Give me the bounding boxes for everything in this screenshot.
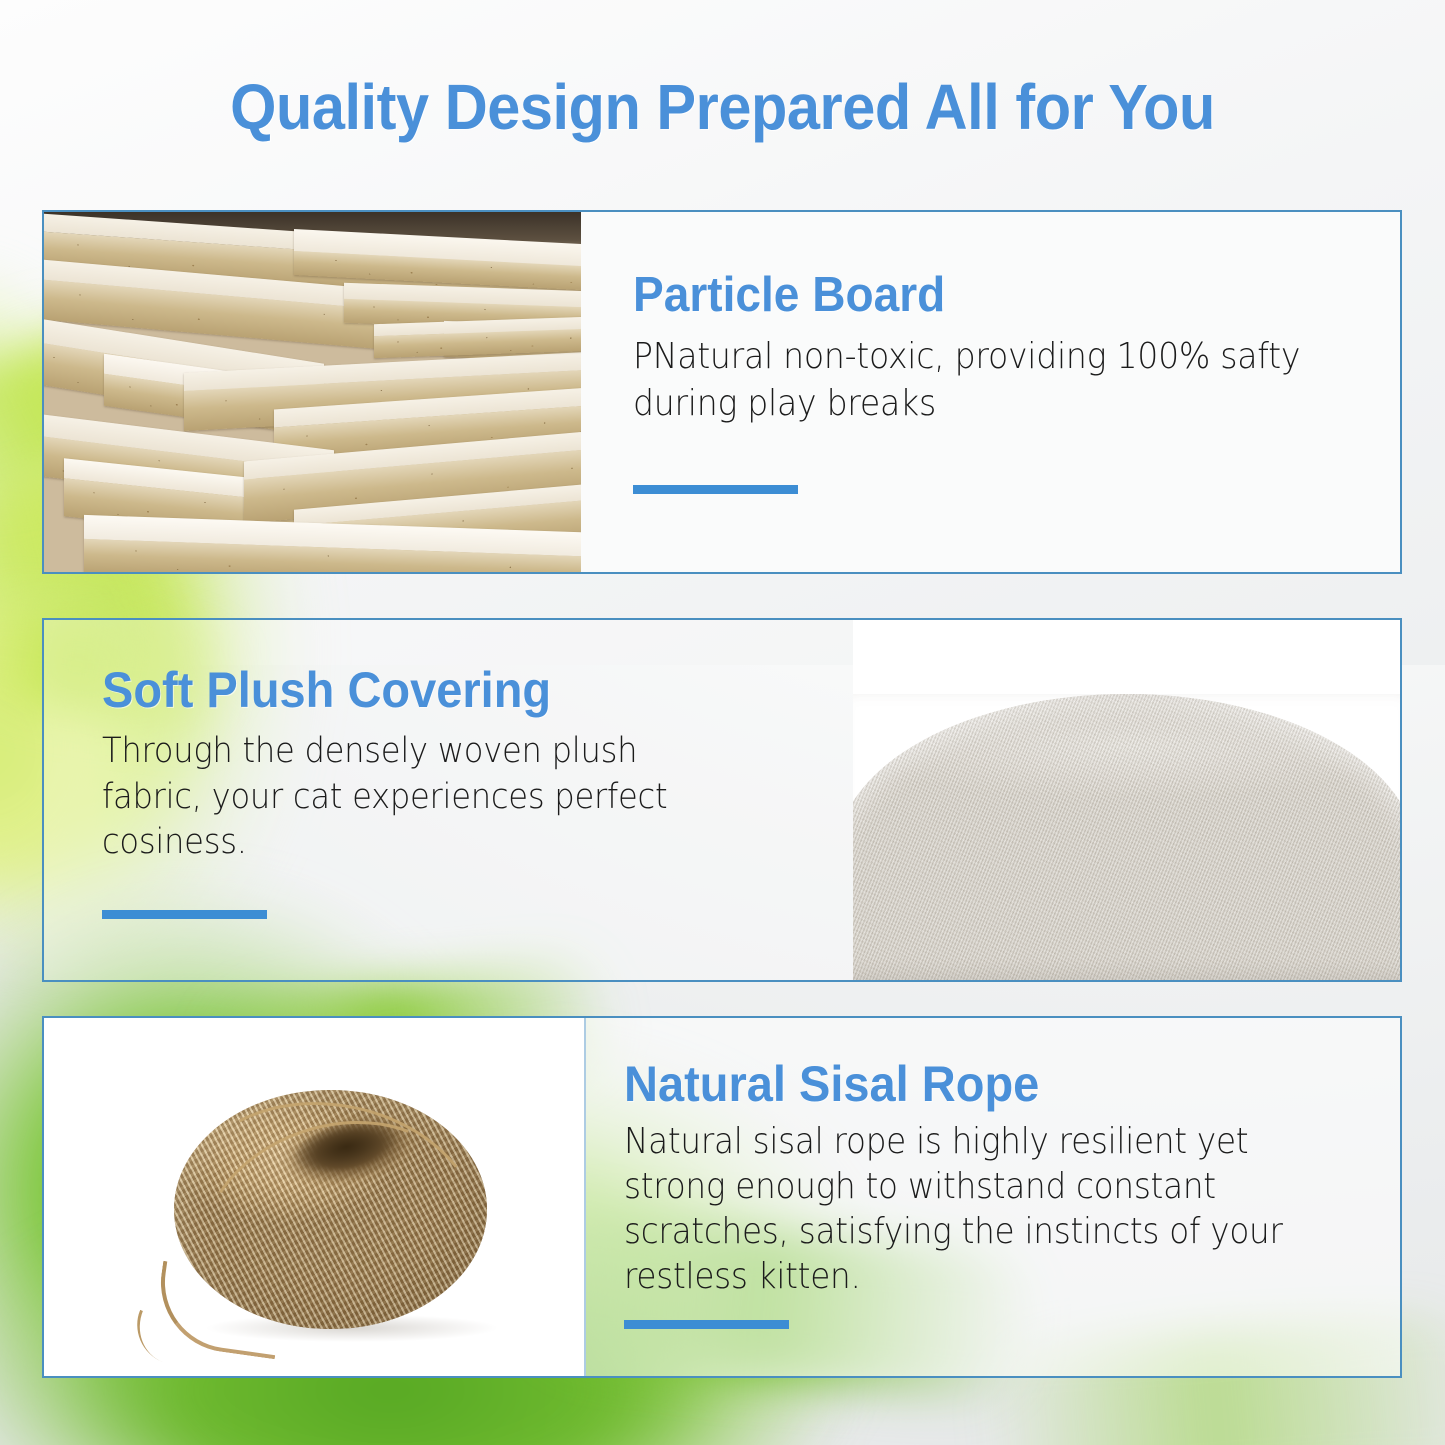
feature-card-particle-board: Particle Board PNatural non-toxic, provi…	[42, 210, 1402, 574]
particle-board-image	[44, 212, 581, 572]
plush-fabric-photo	[853, 620, 1400, 980]
soft-plush-text-pane: Soft Plush Covering Through the densely …	[44, 620, 853, 980]
card-heading: Particle Board	[633, 270, 1316, 322]
card-body: Through the densely woven plush fabric, …	[102, 729, 746, 866]
feature-card-natural-sisal-rope: Natural Sisal Rope Natural sisal rope is…	[42, 1016, 1402, 1378]
particle-board-photo	[44, 212, 581, 572]
sisal-rope-photo	[44, 1018, 584, 1376]
accent-bar	[624, 1320, 789, 1329]
accent-bar	[633, 485, 798, 494]
card-heading: Soft Plush Covering	[102, 664, 780, 717]
sisal-rope-image	[44, 1018, 584, 1376]
plush-fabric-image	[853, 620, 1400, 980]
sisal-rope-text-pane: Natural Sisal Rope Natural sisal rope is…	[584, 1018, 1400, 1376]
card-body: PNatural non-toxic, providing 100% safty…	[633, 334, 1302, 428]
card-heading: Natural Sisal Rope	[624, 1058, 1321, 1111]
particle-board-text-pane: Particle Board PNatural non-toxic, provi…	[581, 212, 1400, 572]
card-body: Natural sisal rope is highly resilient y…	[624, 1119, 1307, 1299]
page-title: Quality Design Prepared All for You	[51, 70, 1395, 144]
accent-bar	[102, 910, 267, 919]
feature-card-soft-plush-covering: Soft Plush Covering Through the densely …	[42, 618, 1402, 982]
